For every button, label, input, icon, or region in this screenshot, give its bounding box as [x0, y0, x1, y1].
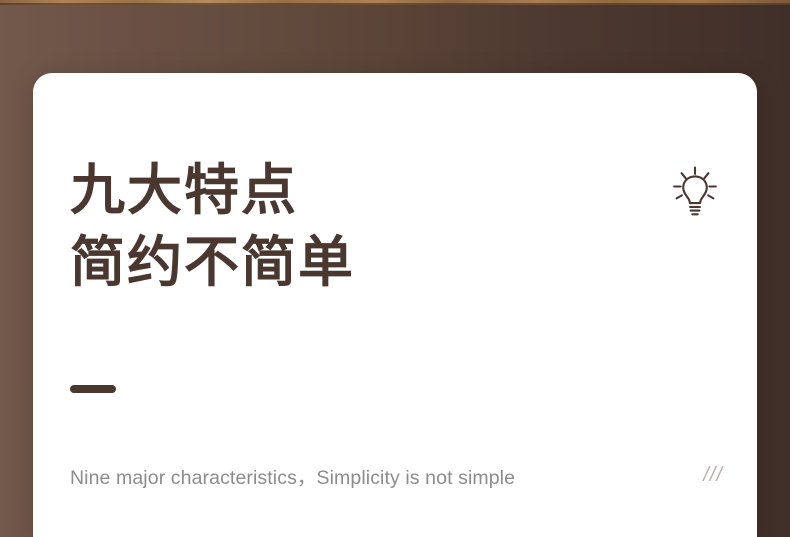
page-title-line-1: 九大特点: [70, 155, 355, 227]
content-card: 九大特点 简约不简单 Nine majo: [33, 73, 757, 537]
top-wood-strip: [0, 0, 790, 5]
subtitle-text: Nine major characteristics，Simplicity is…: [70, 461, 515, 490]
lightbulb-icon: [672, 166, 718, 222]
subtitle-row: Nine major characteristics，Simplicity is…: [70, 461, 725, 490]
slashes-decoration: ///: [703, 464, 725, 487]
page-title: 九大特点 简约不简单: [70, 155, 355, 298]
title-divider: [70, 385, 116, 393]
page-title-line-2: 简约不简单: [70, 227, 355, 299]
slide-stage: 九大特点 简约不简单 Nine majo: [0, 0, 790, 537]
